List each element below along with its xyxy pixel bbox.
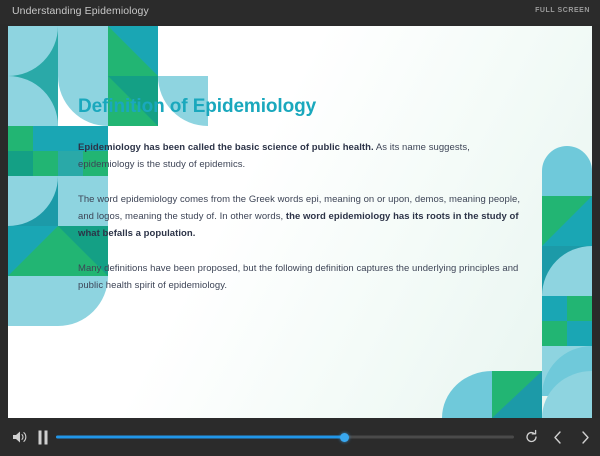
elearning-player: Understanding Epidemiology FULL SCREEN — [0, 0, 600, 456]
progress-handle[interactable] — [340, 433, 349, 442]
slide-content: Definition of Epidemiology Epidemiology … — [78, 96, 528, 313]
deco-shape — [8, 151, 33, 176]
course-title: Understanding Epidemiology — [12, 5, 149, 17]
paragraph-1-bold-lead: Epidemiology has been called the basic s… — [78, 142, 374, 153]
deco-shape — [567, 321, 592, 346]
deco-shape — [33, 126, 58, 151]
deco-shape — [442, 371, 492, 418]
progress-filled — [56, 436, 345, 439]
fullscreen-button[interactable]: FULL SCREEN — [535, 7, 590, 14]
progress-slider[interactable] — [56, 436, 514, 439]
deco-shape — [542, 321, 567, 346]
slide-paragraph-1: Epidemiology has been called the basic s… — [78, 140, 528, 173]
player-controls — [0, 418, 600, 456]
deco-shape — [542, 296, 567, 321]
deco-shape — [8, 276, 58, 326]
title-bar: Understanding Epidemiology FULL SCREEN — [0, 0, 600, 24]
chevron-left-icon[interactable] — [551, 430, 565, 445]
slide-heading: Definition of Epidemiology — [78, 96, 528, 118]
slide-paragraph-2: The word epidemiology comes from the Gre… — [78, 192, 528, 242]
pause-icon[interactable] — [36, 429, 50, 445]
slide-paragraph-3: Many definitions have been proposed, but… — [78, 261, 528, 294]
deco-shape — [567, 296, 592, 321]
volume-icon[interactable] — [12, 429, 28, 445]
deco-shape — [542, 146, 592, 196]
chevron-right-icon[interactable] — [578, 430, 592, 445]
replay-icon[interactable] — [524, 430, 539, 445]
slide-stage: Definition of Epidemiology Epidemiology … — [8, 26, 592, 418]
deco-shape — [58, 26, 108, 76]
